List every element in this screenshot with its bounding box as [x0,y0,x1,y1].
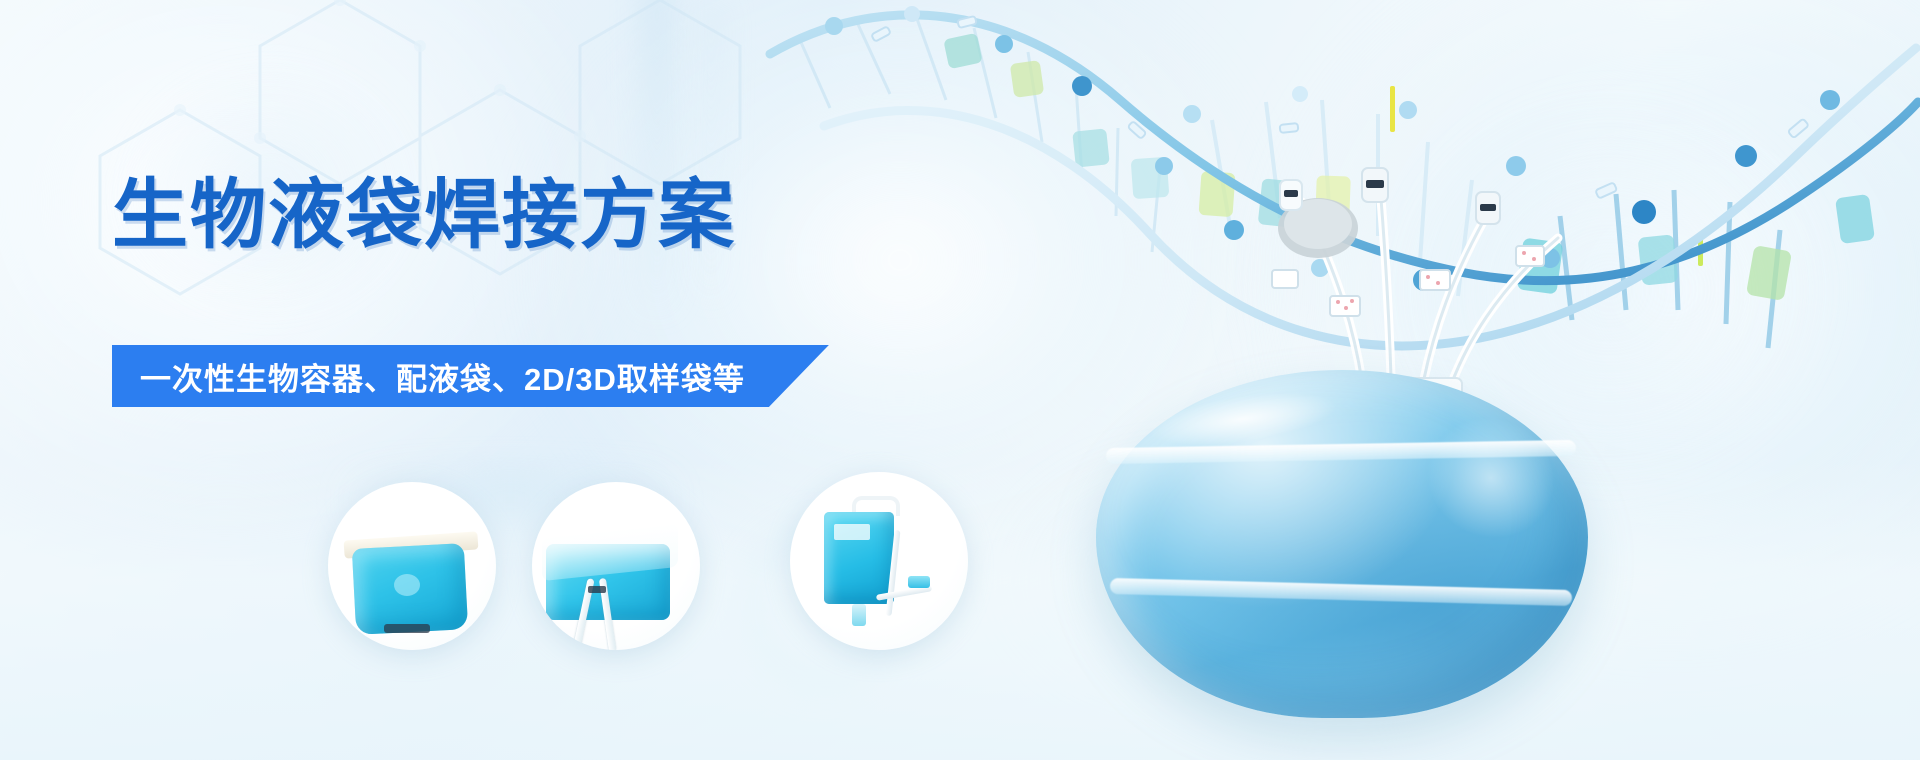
product-thumbnail-pillow-bag[interactable] [328,482,496,650]
page-title: 生物液袋焊接方案 [112,178,736,254]
subtitle-banner: 一次性生物容器、配液袋、2D/3D取样袋等 [112,345,829,407]
pillow-bag-port-clip [384,624,430,633]
sampling-bag-label [834,524,870,540]
sampling-bag-port [852,604,866,626]
sampling-bag-connector [908,576,930,588]
product-thumbnail-sampling-bag[interactable] [790,472,968,650]
cube-bag-clip [588,586,606,593]
product-thumbnail-cube-bag[interactable] [532,482,700,650]
bioreactor-bag-image [1096,370,1588,718]
pillow-bag-port-spot [394,574,420,596]
hero-banner: 生物液袋焊接方案 一次性生物容器、配液袋、2D/3D取样袋等 [0,0,1920,760]
background-floor-fade [0,460,1920,760]
